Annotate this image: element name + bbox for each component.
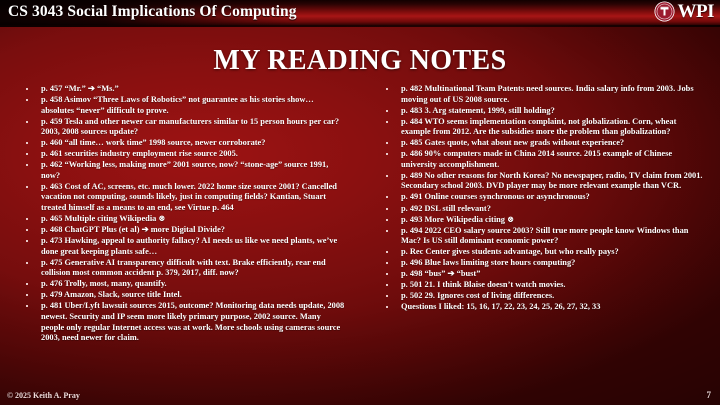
bullet-text: p. 484 WTO seems implementation complain… <box>401 117 676 137</box>
bullet-text: p. 502 29. Ignores cost of living differ… <box>401 291 554 300</box>
bullet-marker-icon <box>26 186 28 188</box>
bullet-item: p. Rec Center gives students advantage, … <box>382 247 706 258</box>
bullet-text: p. 476 Trolly, most, many, quantify. <box>41 279 167 288</box>
bullet-text: p. 465 Multiple citing Wikipedia ⊗ <box>41 214 165 223</box>
bullet-marker-icon <box>26 121 28 123</box>
bullet-item: p. 476 Trolly, most, many, quantify. <box>22 279 346 290</box>
bullet-text: p. 486 90% computers made in China 2014 … <box>401 149 672 169</box>
bullet-item: p. 463 Cost of AC, screens, etc. much lo… <box>22 182 346 214</box>
bullet-text: Questions I liked: 15, 16, 17, 22, 23, 2… <box>401 302 600 311</box>
bullet-item: p. 457 “Mr.” ➔ “Ms.” <box>22 84 346 95</box>
bullet-item: p. 481 Uber/Lyft lawsuit sources 2015, o… <box>22 301 346 343</box>
header-banner-divider <box>0 25 720 27</box>
bullet-item: p. 489 No other reasons for North Korea?… <box>382 171 706 192</box>
bullet-item: p. 459 Tesla and other newer car manufac… <box>22 117 346 138</box>
bullet-text: p. 457 “Mr.” ➔ “Ms.” <box>41 84 119 93</box>
bullet-text: p. 475 Generative AI transparency diffic… <box>41 258 326 278</box>
bullet-item: p. 468 ChatGPT Plus (et al) ➔ more Digit… <box>22 225 346 236</box>
bullet-text: p. 492 DSL still relevant? <box>401 204 491 213</box>
bullet-marker-icon <box>386 153 388 155</box>
bullet-marker-icon <box>386 295 388 297</box>
course-title: CS 3043 Social Implications Of Computing <box>8 3 297 21</box>
bullet-item: p. 461 securities industry employment ri… <box>22 149 346 160</box>
bullet-item: p. 458 Asimov “Three Laws of Robotics” n… <box>22 95 346 116</box>
bullet-item: p. 501 21. I think Blaise doesn’t watch … <box>382 280 706 291</box>
bullet-text: p. 462 “Working less, making more” 2001 … <box>41 160 328 180</box>
bullet-text: p. 463 Cost of AC, screens, etc. much lo… <box>41 182 337 212</box>
bullet-item: p. 475 Generative AI transparency diffic… <box>22 258 346 279</box>
bullet-item: p. 479 Amazon, Slack, source title Intel… <box>22 290 346 301</box>
bullet-text: p. 479 Amazon, Slack, source title Intel… <box>41 290 182 299</box>
bullet-marker-icon <box>386 88 388 90</box>
bullet-text: p. 491 Online courses synchronous or asy… <box>401 192 590 201</box>
right-column: p. 482 Multinational Team Patents need s… <box>360 84 720 370</box>
bullet-marker-icon <box>386 219 388 221</box>
bullet-marker-icon <box>386 196 388 198</box>
bullet-item: p. 494 2022 CEO salary source 2003? Stil… <box>382 226 706 247</box>
bullet-marker-icon <box>386 208 388 210</box>
bullet-marker-icon <box>26 142 28 144</box>
bullet-item: p. 486 90% computers made in China 2014 … <box>382 149 706 170</box>
bullet-marker-icon <box>386 142 388 144</box>
bullet-text: p. 473 Hawking, appeal to authority fall… <box>41 236 337 256</box>
left-bullet-list: p. 457 “Mr.” ➔ “Ms.”p. 458 Asimov “Three… <box>22 84 346 344</box>
slide-body: p. 457 “Mr.” ➔ “Ms.”p. 458 Asimov “Three… <box>0 84 720 370</box>
bullet-item: p. 460 “all time… work time” 1998 source… <box>22 138 346 149</box>
bullet-item: p. 484 WTO seems implementation complain… <box>382 117 706 138</box>
bullet-item: Questions I liked: 15, 16, 17, 22, 23, 2… <box>382 302 706 313</box>
bullet-text: p. 482 Multinational Team Patents need s… <box>401 84 694 104</box>
bullet-marker-icon <box>26 218 28 220</box>
bullet-marker-icon <box>26 240 28 242</box>
bullet-marker-icon <box>386 230 388 232</box>
wpi-logo: WPI <box>654 1 715 22</box>
bullet-text: p. 485 Gates quote, what about new grads… <box>401 138 624 147</box>
bullet-marker-icon <box>26 88 28 90</box>
bullet-marker-icon <box>26 294 28 296</box>
bullet-marker-icon <box>386 251 388 253</box>
left-column: p. 457 “Mr.” ➔ “Ms.”p. 458 Asimov “Three… <box>0 84 360 370</box>
bullet-marker-icon <box>386 110 388 112</box>
bullet-text: p. 459 Tesla and other newer car manufac… <box>41 117 339 137</box>
bullet-text: p. Rec Center gives students advantage, … <box>401 247 619 256</box>
right-bullet-list: p. 482 Multinational Team Patents need s… <box>382 84 706 313</box>
bullet-text: p. 494 2022 CEO salary source 2003? Stil… <box>401 226 688 246</box>
bullet-marker-icon <box>26 153 28 155</box>
bullet-item: p. 485 Gates quote, what about new grads… <box>382 138 706 149</box>
bullet-text: p. 489 No other reasons for North Korea?… <box>401 171 703 191</box>
bullet-marker-icon <box>386 306 388 308</box>
footer-page-number: 7 <box>707 390 712 400</box>
bullet-text: p. 460 “all time… work time” 1998 source… <box>41 138 265 147</box>
bullet-text: p. 458 Asimov “Three Laws of Robotics” n… <box>41 95 314 115</box>
bullet-marker-icon <box>386 284 388 286</box>
bullet-text: p. 468 ChatGPT Plus (et al) ➔ more Digit… <box>41 225 225 234</box>
bullet-item: p. 492 DSL still relevant? <box>382 204 706 215</box>
bullet-text: p. 461 securities industry employment ri… <box>41 149 238 158</box>
bullet-text: p. 481 Uber/Lyft lawsuit sources 2015, o… <box>41 301 344 342</box>
bullet-marker-icon <box>26 262 28 264</box>
bullet-marker-icon <box>386 273 388 275</box>
bullet-item: p. 491 Online courses synchronous or asy… <box>382 192 706 203</box>
bullet-item: p. 462 “Working less, making more” 2001 … <box>22 160 346 181</box>
bullet-marker-icon <box>386 262 388 264</box>
bullet-text: p. 501 21. I think Blaise doesn’t watch … <box>401 280 566 289</box>
bullet-item: p. 498 “bus” ➔ “bust” <box>382 269 706 280</box>
bullet-item: p. 465 Multiple citing Wikipedia ⊗ <box>22 214 346 225</box>
bullet-item: p. 482 Multinational Team Patents need s… <box>382 84 706 105</box>
bullet-marker-icon <box>26 164 28 166</box>
bullet-item: p. 483 3. Arg statement, 1999, still hol… <box>382 106 706 117</box>
page-title: MY READING NOTES <box>0 45 720 77</box>
wpi-seal-icon <box>654 1 675 22</box>
bullet-text: p. 483 3. Arg statement, 1999, still hol… <box>401 106 555 115</box>
bullet-text: p. 493 More Wikipedia citing ⊗ <box>401 215 514 224</box>
bullet-marker-icon <box>386 175 388 177</box>
bullet-item: p. 502 29. Ignores cost of living differ… <box>382 291 706 302</box>
bullet-item: p. 473 Hawking, appeal to authority fall… <box>22 236 346 257</box>
wpi-wordmark: WPI <box>678 1 715 22</box>
bullet-marker-icon <box>26 99 28 101</box>
bullet-text: p. 498 “bus” ➔ “bust” <box>401 269 480 278</box>
footer-copyright: © 2025 Keith A. Pray <box>7 391 80 400</box>
bullet-marker-icon <box>26 305 28 307</box>
bullet-item: p. 493 More Wikipedia citing ⊗ <box>382 215 706 226</box>
bullet-marker-icon <box>26 283 28 285</box>
presentation-slide: CS 3043 Social Implications Of Computing… <box>0 0 720 405</box>
bullet-marker-icon <box>386 121 388 123</box>
bullet-item: p. 496 Blue laws limiting store hours co… <box>382 258 706 269</box>
bullet-text: p. 496 Blue laws limiting store hours co… <box>401 258 575 267</box>
bullet-marker-icon <box>26 229 28 231</box>
